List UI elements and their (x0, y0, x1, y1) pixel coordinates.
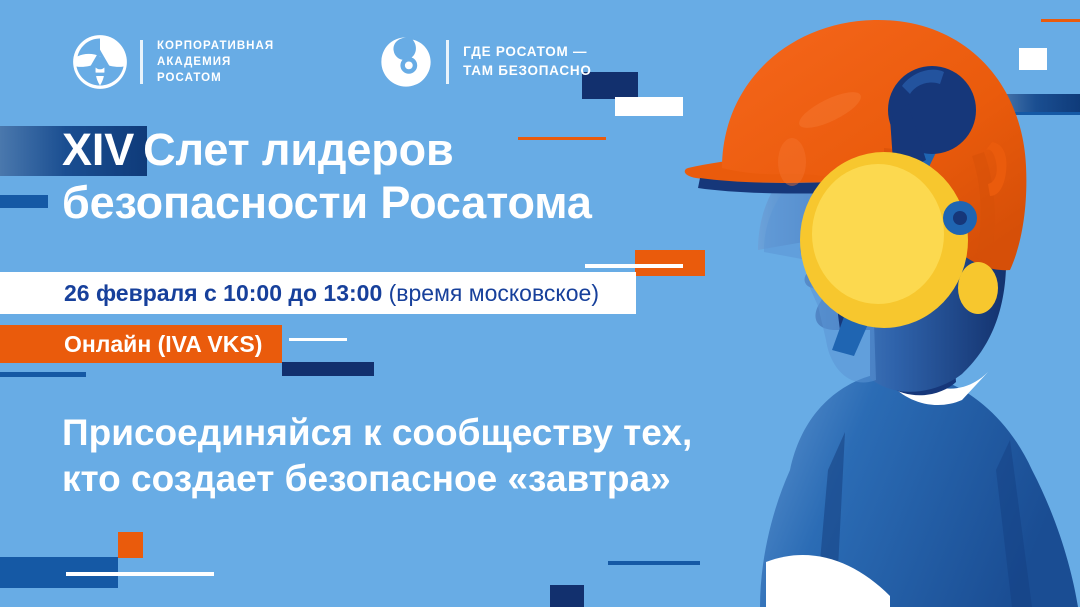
date-note: (время московское) (382, 280, 599, 306)
safety-logo-group: ГДЕ РОСАТОМ — ТАМ БЕЗОПАСНО (378, 34, 591, 90)
white-line-right (289, 338, 347, 341)
logo-row: КОРПОРАТИВНАЯ АКАДЕМИЯ РОСАТОМ ГДЕ РОСАТ… (72, 34, 592, 90)
rosatom-atom-logo (72, 34, 128, 90)
academy-logo-text: КОРПОРАТИВНАЯ АКАДЕМИЯ РОСАТОМ (157, 38, 274, 87)
helmet-highlight-2 (778, 138, 806, 186)
page-title: XIVСлет лидеров безопасности Росатома (62, 124, 702, 229)
date-strong: 26 февраля с 10:00 до 13:00 (64, 280, 382, 306)
orange-square-bottom-left (118, 532, 143, 558)
academy-line-1: КОРПОРАТИВНАЯ (157, 38, 274, 54)
title-line-1: Слет лидеров (143, 124, 453, 175)
safety-line-1: ГДЕ РОСАТОМ — (463, 43, 591, 62)
format-badge: Онлайн (IVA VKS) (0, 325, 282, 363)
blue-line-left (0, 372, 86, 377)
title-roman-number: XIV (62, 124, 143, 175)
tagline-line-1: Присоединяйся к сообществу тех, (62, 410, 762, 456)
ear-defender-knob (958, 262, 998, 314)
navy-rect-mid (282, 362, 374, 376)
safety-logo-text: ГДЕ РОСАТОМ — ТАМ БЕЗОПАСНО (463, 43, 591, 80)
event-poster: КОРПОРАТИВНАЯ АКАДЕМИЯ РОСАТОМ ГДЕ РОСАТ… (0, 0, 1080, 607)
date-text: 26 февраля с 10:00 до 13:00 (время моско… (64, 280, 599, 307)
date-bar: 26 февраля с 10:00 до 13:00 (время моско… (0, 272, 636, 314)
tagline-line-2: кто создает безопасное «завтра» (62, 456, 762, 502)
blue-line-title-left (0, 195, 48, 208)
ear-defender-inner (812, 164, 944, 304)
academy-line-3: РОСАТОМ (157, 70, 274, 86)
logo-divider-2 (446, 40, 449, 84)
tagline: Присоединяйся к сообществу тех, кто созд… (62, 410, 762, 503)
logo-divider (140, 40, 143, 84)
rosatom-safety-swirl-logo (378, 34, 434, 90)
title-line-2: безопасности Росатома (62, 177, 592, 228)
safety-line-2: ТАМ БЕЗОПАСНО (463, 62, 591, 81)
academy-line-2: АКАДЕМИЯ (157, 54, 274, 70)
academy-logo-group: КОРПОРАТИВНАЯ АКАДЕМИЯ РОСАТОМ (72, 34, 274, 90)
format-label: Онлайн (IVA VKS) (64, 331, 262, 358)
helmet-adjuster-dial-center (953, 211, 967, 225)
navy-square-bottom (550, 585, 584, 607)
worker-illustration (640, 0, 1080, 607)
white-line-bottom (66, 572, 214, 576)
